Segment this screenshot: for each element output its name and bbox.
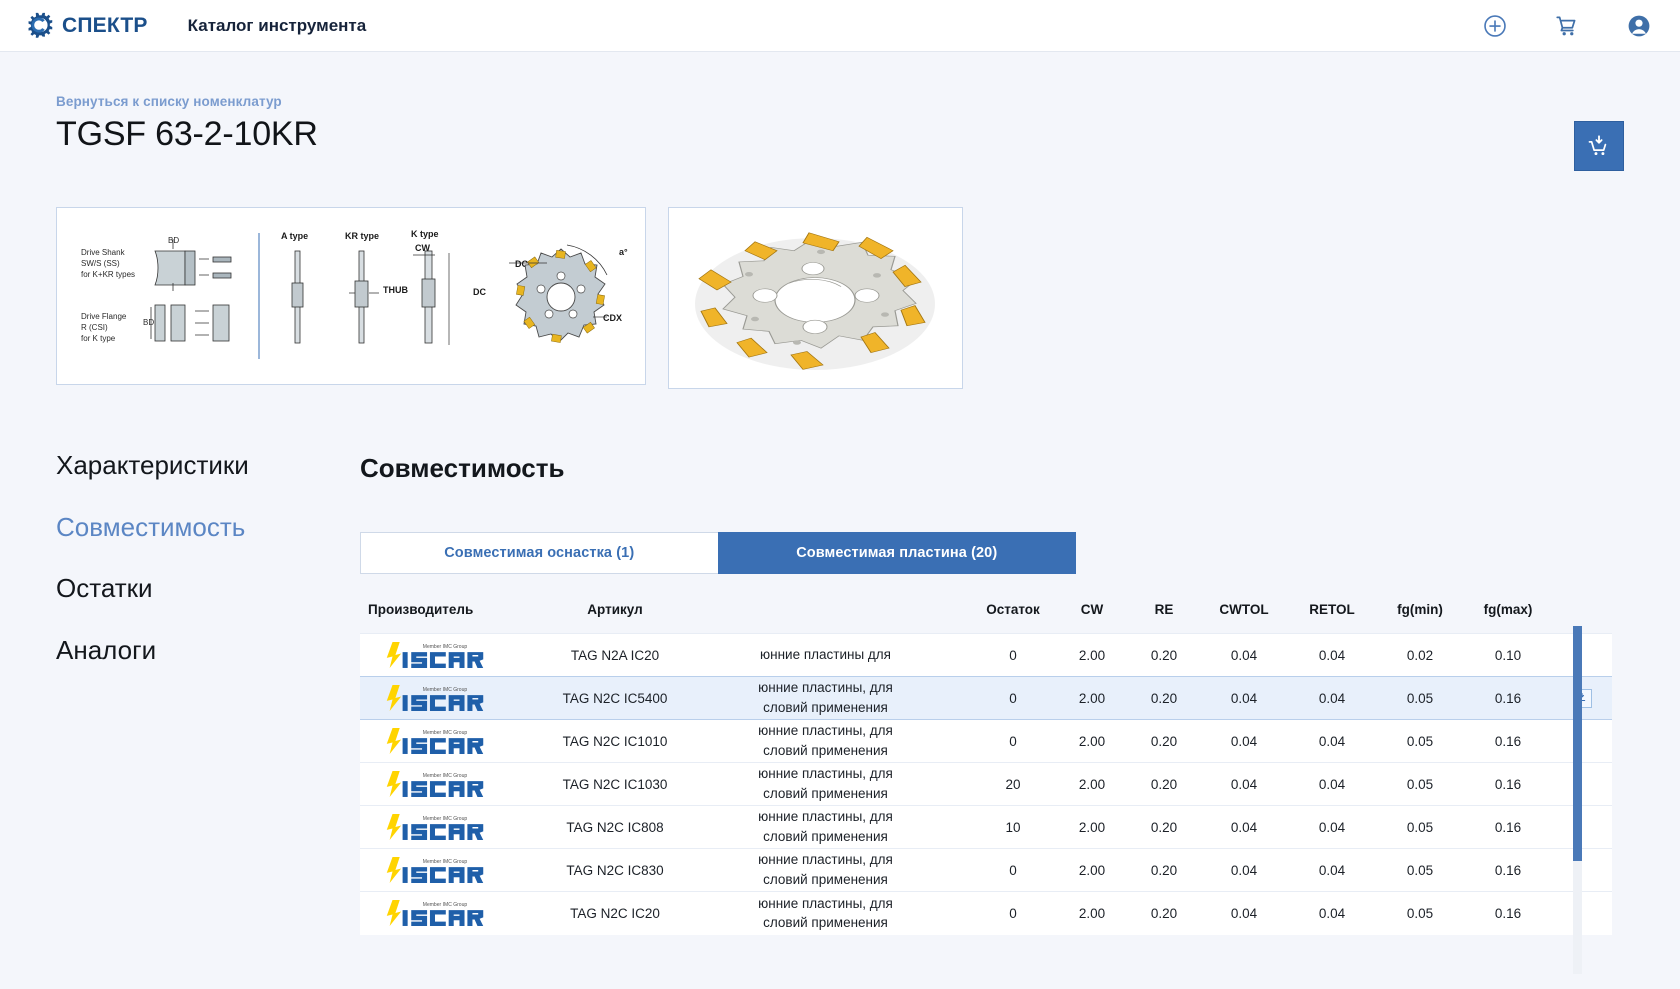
add-circle-icon[interactable]	[1482, 13, 1508, 39]
cell-retol: 0.04	[1288, 763, 1376, 806]
cell-fgmin: 0.02	[1376, 634, 1464, 677]
product-media-row: Drive Shank SW/S (SS) for K+KR types Dri…	[56, 207, 1680, 389]
cell-manufacturer: Member IMC Group	[360, 849, 510, 892]
compatibility-tabs: Совместимая оснастка (1) Совместимая пла…	[360, 532, 1076, 574]
col-article: Артикул	[510, 592, 720, 634]
cell-retol: 0.04	[1288, 720, 1376, 763]
cell-stock: 0	[970, 677, 1056, 720]
cell-cw: 2.00	[1056, 806, 1128, 849]
section-title: Совместимость	[360, 453, 1680, 484]
table-scrollbar-thumb[interactable]	[1573, 626, 1582, 861]
svg-text:Member IMC Group: Member IMC Group	[423, 730, 468, 736]
col-re: RE	[1128, 592, 1200, 634]
cell-description: юнние пластины, длясловий применения	[720, 720, 970, 763]
svg-text:Member IMC Group: Member IMC Group	[423, 859, 468, 865]
cell-fgmin: 0.05	[1376, 849, 1464, 892]
insert-description-line: словий применения	[678, 741, 973, 761]
tab-compatible-toolholder[interactable]: Совместимая оснастка (1)	[360, 532, 718, 574]
cell-fgmin: 0.05	[1376, 763, 1464, 806]
cell-re: 0.20	[1128, 892, 1200, 935]
cell-stock: 0	[970, 892, 1056, 935]
svg-text:CDX: CDX	[603, 313, 622, 323]
sidebar-item-compatibility[interactable]: Совместимость	[56, 513, 360, 542]
cell-manufacturer: Member IMC Group	[360, 806, 510, 849]
page-body: Вернуться к списку номенклатур TGSF 63-2…	[0, 94, 1680, 935]
cell-cw: 2.00	[1056, 677, 1128, 720]
cell-cw: 2.00	[1056, 849, 1128, 892]
iscar-logo: Member IMC Group	[381, 812, 489, 842]
insert-description-line: юнние пластины для	[678, 645, 973, 665]
title-row: TGSF 63-2-10KR	[56, 115, 1624, 171]
svg-text:a°: a°	[619, 247, 628, 257]
cell-re: 0.20	[1128, 849, 1200, 892]
gear-logo-icon	[26, 11, 56, 41]
cell-retol: 0.04	[1288, 634, 1376, 677]
col-cw: CW	[1056, 592, 1128, 634]
col-fgmax: fg(max)	[1464, 592, 1552, 634]
breadcrumb-back-link[interactable]: Вернуться к списку номенклатур	[56, 94, 1680, 109]
svg-text:K type: K type	[411, 229, 439, 239]
cell-fgmin: 0.05	[1376, 720, 1464, 763]
iscar-logo: Member IMC Group	[381, 726, 489, 756]
svg-text:Member IMC Group: Member IMC Group	[423, 816, 468, 822]
cell-re: 0.20	[1128, 763, 1200, 806]
cell-fgmax: 0.16	[1464, 677, 1552, 720]
table-row[interactable]: Member IMC Group TAG N2C IC20 юнние плас…	[360, 892, 1612, 935]
cell-description: юнние пластины для	[720, 634, 970, 677]
technical-drawing-image: Drive Shank SW/S (SS) for K+KR types Dri…	[63, 213, 639, 379]
cell-cwtol: 0.04	[1200, 720, 1288, 763]
section-sidebar: Характеристики Совместимость Остатки Ана…	[0, 451, 360, 935]
insert-description-line: юнние пластины, для	[678, 764, 973, 784]
sidebar-item-characteristics[interactable]: Характеристики	[56, 451, 360, 480]
cell-actions	[1552, 720, 1612, 763]
cell-cw: 2.00	[1056, 720, 1128, 763]
add-to-cart-button[interactable]	[1574, 121, 1624, 171]
cell-cw: 2.00	[1056, 634, 1128, 677]
cell-stock: 10	[970, 806, 1056, 849]
content-area: Характеристики Совместимость Остатки Ана…	[0, 451, 1680, 935]
page-title: TGSF 63-2-10KR	[56, 115, 318, 154]
insert-description-line: словий применения	[678, 913, 973, 933]
insert-description-line: юнние пластины, для	[678, 894, 973, 914]
svg-text:for K type: for K type	[81, 334, 116, 343]
cell-description: юнние пластины, длясловий применения	[720, 892, 970, 935]
svg-text:Member IMC Group: Member IMC Group	[423, 902, 468, 908]
cell-cwtol: 0.04	[1200, 634, 1288, 677]
insert-description-line: юнние пластины, для	[678, 807, 973, 827]
cell-re: 0.20	[1128, 634, 1200, 677]
insert-description-line: юнние пластины, для	[678, 721, 973, 741]
cell-cwtol: 0.04	[1200, 806, 1288, 849]
cart-download-icon	[1586, 133, 1612, 159]
product-photo-card[interactable]	[668, 207, 963, 389]
cell-retol: 0.04	[1288, 806, 1376, 849]
cell-retol: 0.04	[1288, 849, 1376, 892]
svg-text:DC: DC	[473, 287, 486, 297]
table-row[interactable]: Member IMC Group TAG N2C IC830 юнние пла…	[360, 849, 1612, 892]
compatible-inserts-table: Производитель Артикул Остаток CW RE CWTO…	[360, 592, 1612, 935]
cell-actions	[1552, 849, 1612, 892]
cart-icon[interactable]	[1554, 13, 1580, 39]
iscar-logo: Member IMC Group	[381, 855, 489, 885]
cell-description: юнние пластины, длясловий применения	[720, 806, 970, 849]
cell-retol: 0.04	[1288, 677, 1376, 720]
table-body: Member IMC Group TAG N2A IC20 юнние плас…	[360, 634, 1612, 935]
cell-fgmin: 0.05	[1376, 806, 1464, 849]
cell-fgmax: 0.16	[1464, 892, 1552, 935]
cell-cw: 2.00	[1056, 892, 1128, 935]
cell-stock: 0	[970, 849, 1056, 892]
user-avatar-icon[interactable]	[1626, 13, 1652, 39]
cell-stock: 20	[970, 763, 1056, 806]
cell-actions	[1552, 806, 1612, 849]
top-navigation-bar: СПЕКТР Каталог инструмента	[0, 0, 1680, 52]
table-row[interactable]: Member IMC Group TAG N2C IC808 юнние пла…	[360, 806, 1612, 849]
iscar-logo: Member IMC Group	[381, 898, 489, 928]
col-description	[720, 592, 970, 634]
cell-fgmax: 0.16	[1464, 806, 1552, 849]
table-row[interactable]: Member IMC Group TAG N2C IC5400 юнние пл…	[360, 677, 1612, 720]
cell-description: юнние пластины, длясловий применения	[720, 849, 970, 892]
svg-text:SW/S (SS): SW/S (SS)	[81, 259, 120, 268]
insert-description-line: словий применения	[678, 870, 973, 890]
logo-label: СПЕКТР	[62, 15, 148, 36]
svg-text:Member IMC Group: Member IMC Group	[423, 773, 468, 779]
insert-description-line: словий применения	[678, 784, 973, 804]
cell-re: 0.20	[1128, 806, 1200, 849]
cell-fgmin: 0.05	[1376, 677, 1464, 720]
cell-actions	[1552, 634, 1612, 677]
svg-text:A type: A type	[281, 231, 308, 241]
table-scrollbar[interactable]	[1573, 626, 1582, 974]
table-header: Производитель Артикул Остаток CW RE CWTO…	[360, 592, 1612, 634]
cell-cwtol: 0.04	[1200, 677, 1288, 720]
col-actions	[1552, 592, 1612, 634]
cell-stock: 0	[970, 720, 1056, 763]
svg-text:R (CSI): R (CSI)	[81, 323, 108, 332]
cell-fgmax: 0.16	[1464, 720, 1552, 763]
top-bar-actions	[1482, 13, 1652, 39]
col-retol: RETOL	[1288, 592, 1376, 634]
cell-re: 0.20	[1128, 677, 1200, 720]
cell-description: юнние пластины, длясловий применения	[720, 763, 970, 806]
cell-manufacturer: Member IMC Group	[360, 677, 510, 720]
cell-manufacturer: Member IMC Group	[360, 892, 510, 935]
cell-actions	[1552, 763, 1612, 806]
table-row[interactable]: Member IMC Group TAG N2C IC1030 юнние пл…	[360, 763, 1612, 806]
cell-cw: 2.00	[1056, 763, 1128, 806]
svg-text:for K+KR types: for K+KR types	[81, 270, 135, 279]
product-photo-image	[675, 214, 956, 382]
cell-cwtol: 0.04	[1200, 763, 1288, 806]
product-technical-drawing-card[interactable]: Drive Shank SW/S (SS) for K+KR types Dri…	[56, 207, 646, 385]
sidebar-item-analogs[interactable]: Аналоги	[56, 636, 360, 665]
cell-fgmin: 0.05	[1376, 892, 1464, 935]
main-panel: Совместимость Совместимая оснастка (1) С…	[360, 451, 1680, 935]
cell-stock: 0	[970, 634, 1056, 677]
col-stock: Остаток	[970, 592, 1056, 634]
cell-actions	[1552, 892, 1612, 935]
cell-manufacturer: Member IMC Group	[360, 763, 510, 806]
insert-description-line: юнние пластины, для	[678, 850, 973, 870]
cell-fgmax: 0.16	[1464, 849, 1552, 892]
col-fgmin: fg(min)	[1376, 592, 1464, 634]
cell-re: 0.20	[1128, 720, 1200, 763]
cell-fgmax: 0.16	[1464, 763, 1552, 806]
cell-manufacturer: Member IMC Group	[360, 720, 510, 763]
svg-text:BD: BD	[168, 236, 179, 245]
cell-retol: 0.04	[1288, 892, 1376, 935]
cell-cwtol: 0.04	[1200, 892, 1288, 935]
svg-text:Drive Shank: Drive Shank	[81, 248, 126, 257]
cell-fgmax: 0.10	[1464, 634, 1552, 677]
svg-text:Drive Flange: Drive Flange	[81, 312, 127, 321]
compatible-inserts-table-wrap: Производитель Артикул Остаток CW RE CWTO…	[360, 592, 1580, 935]
cell-manufacturer: Member IMC Group	[360, 634, 510, 677]
tab-compatible-insert[interactable]: Совместимая пластина (20)	[718, 532, 1077, 574]
svg-text:KR type: KR type	[345, 231, 379, 241]
table-row[interactable]: Member IMC Group TAG N2C IC1010 юнние пл…	[360, 720, 1612, 763]
cell-actions	[1552, 677, 1612, 720]
svg-text:THUB: THUB	[383, 285, 408, 295]
iscar-logo: Member IMC Group	[381, 769, 489, 799]
col-cwtol: CWTOL	[1200, 592, 1288, 634]
sidebar-item-stock[interactable]: Остатки	[56, 574, 360, 603]
iscar-logo: Member IMC Group	[381, 683, 489, 713]
app-logo[interactable]: СПЕКТР	[26, 11, 148, 41]
app-title: Каталог инструмента	[188, 16, 367, 36]
insert-description-line: словий применения	[678, 698, 973, 718]
insert-description-line: юнние пластины, для	[678, 678, 973, 698]
cell-cwtol: 0.04	[1200, 849, 1288, 892]
svg-text:Member IMC Group: Member IMC Group	[423, 687, 468, 693]
cell-description: юнние пластины, длясловий применения	[720, 677, 970, 720]
col-manufacturer: Производитель	[360, 592, 510, 634]
iscar-logo: Member IMC Group	[381, 640, 489, 670]
table-header-row: Производитель Артикул Остаток CW RE CWTO…	[360, 592, 1612, 634]
svg-text:BD: BD	[143, 318, 154, 327]
table-row[interactable]: Member IMC Group TAG N2A IC20 юнние плас…	[360, 634, 1612, 677]
svg-text:Member IMC Group: Member IMC Group	[423, 644, 468, 650]
insert-description-line: словий применения	[678, 827, 973, 847]
